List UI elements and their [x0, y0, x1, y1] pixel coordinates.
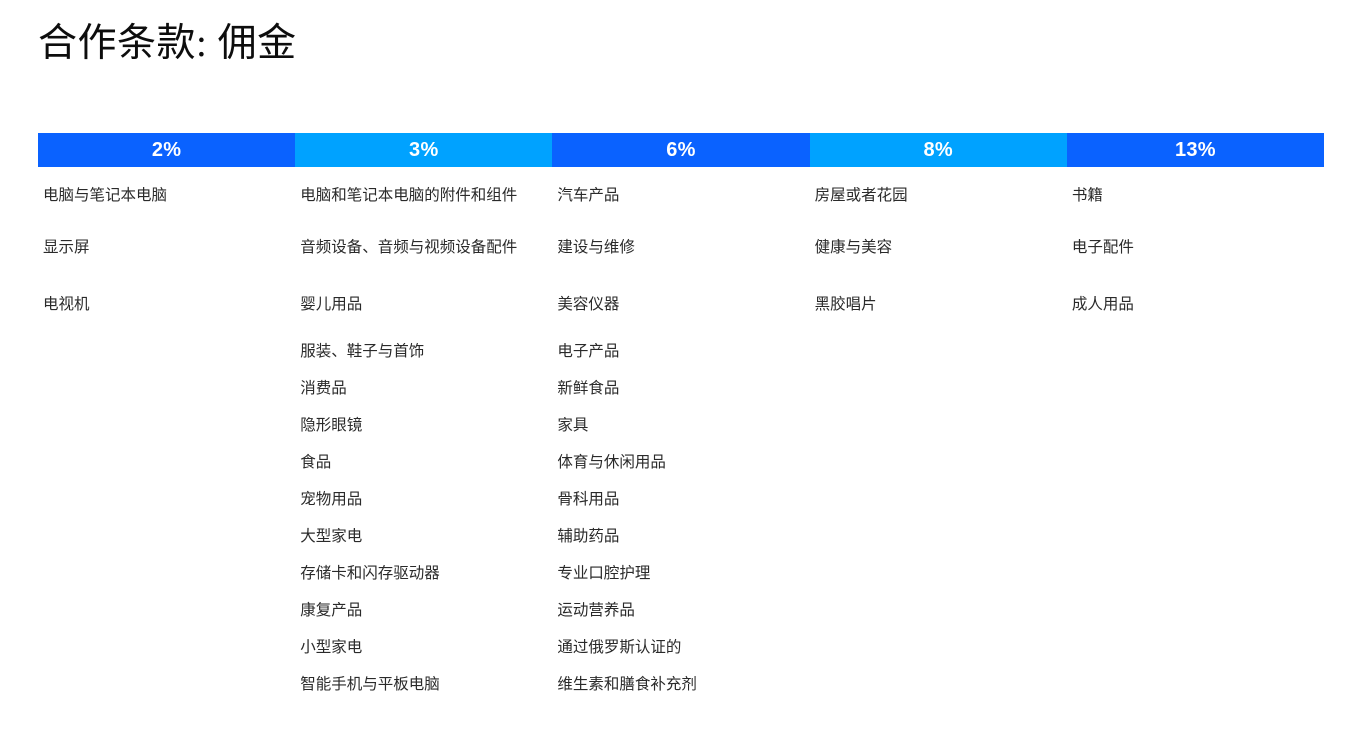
- table-cell: 通过俄罗斯认证的: [557, 629, 797, 666]
- table-cell-label: 电子配件: [1072, 238, 1134, 258]
- table-cell-label: 书籍: [1072, 186, 1103, 206]
- table-cell-label: 电脑与笔记本电脑: [43, 186, 167, 206]
- table-cell: 食品: [300, 444, 540, 481]
- commission-body: 电脑与笔记本电脑显示屏电视机 电脑和笔记本电脑的附件和组件音频设备、音频与视频设…: [38, 167, 1324, 703]
- table-cell: 体育与休闲用品: [557, 444, 797, 481]
- table-cell: 康复产品: [300, 592, 540, 629]
- table-cell: 显示屏: [43, 219, 283, 276]
- table-cell-label: 黑胶唱片: [815, 295, 877, 315]
- table-cell-label: 电脑和笔记本电脑的附件和组件: [300, 186, 517, 206]
- table-cell-label: 宠物用品: [300, 490, 362, 510]
- column-header-label: 3%: [409, 139, 439, 162]
- column-body-6-percent: 汽车产品建设与维修美容仪器电子产品新鲜食品家具体育与休闲用品骨科用品辅助药品专业…: [552, 167, 809, 703]
- table-cell: 建设与维修: [557, 219, 797, 276]
- table-cell: 电脑与笔记本电脑: [43, 167, 283, 219]
- column-header-8-percent: 8%: [810, 133, 1067, 167]
- column-header-6-percent: 6%: [552, 133, 809, 167]
- table-cell: 运动营养品: [557, 592, 797, 629]
- table-cell: 汽车产品: [557, 167, 797, 219]
- commission-table: 2% 3% 6% 8% 13% 电脑与笔记本电脑显示屏电视机 电脑和笔记本电脑的…: [38, 133, 1324, 703]
- table-cell-label: 维生素和膳食补充剂: [557, 675, 697, 695]
- table-cell-label: 通过俄罗斯认证的: [557, 638, 681, 658]
- table-cell: 电脑和笔记本电脑的附件和组件: [300, 167, 540, 219]
- column-header-13-percent: 13%: [1067, 133, 1324, 167]
- table-cell-label: 音频设备、音频与视频设备配件: [300, 238, 517, 258]
- column-header-label: 13%: [1175, 139, 1216, 162]
- table-cell: 成人用品: [1072, 276, 1312, 333]
- table-cell-label: 新鲜食品: [557, 379, 619, 399]
- table-cell: 消费品: [300, 370, 540, 407]
- column-header-2-percent: 2%: [38, 133, 295, 167]
- table-cell: 服装、鞋子与首饰: [300, 333, 540, 370]
- table-cell: 黑胶唱片: [815, 276, 1055, 333]
- table-cell-label: 辅助药品: [557, 527, 619, 547]
- table-cell-label: 家具: [557, 416, 588, 436]
- table-cell: 骨科用品: [557, 481, 797, 518]
- table-cell: 家具: [557, 407, 797, 444]
- column-header-label: 2%: [152, 139, 182, 162]
- page-title: 合作条款: 佣金: [38, 18, 297, 70]
- table-cell: 婴儿用品: [300, 276, 540, 333]
- table-cell-label: 小型家电: [300, 638, 362, 658]
- table-cell-label: 服装、鞋子与首饰: [300, 342, 424, 362]
- column-body-2-percent: 电脑与笔记本电脑显示屏电视机: [38, 167, 295, 703]
- table-cell-label: 体育与休闲用品: [557, 453, 666, 473]
- table-cell-label: 建设与维修: [557, 238, 635, 258]
- table-cell: 小型家电: [300, 629, 540, 666]
- table-cell-label: 存储卡和闪存驱动器: [300, 564, 440, 584]
- column-header-label: 8%: [923, 139, 953, 162]
- table-cell-label: 康复产品: [300, 601, 362, 621]
- table-cell: 宠物用品: [300, 481, 540, 518]
- table-cell-label: 隐形眼镜: [300, 416, 362, 436]
- table-cell: 美容仪器: [557, 276, 797, 333]
- table-cell: 健康与美容: [815, 219, 1055, 276]
- table-cell: 存储卡和闪存驱动器: [300, 555, 540, 592]
- table-cell: 大型家电: [300, 518, 540, 555]
- commission-header-row: 2% 3% 6% 8% 13%: [38, 133, 1324, 167]
- table-cell: 音频设备、音频与视频设备配件: [300, 219, 540, 276]
- column-body-13-percent: 书籍电子配件成人用品: [1067, 167, 1324, 703]
- table-cell-label: 大型家电: [300, 527, 362, 547]
- table-cell-label: 成人用品: [1072, 295, 1134, 315]
- table-cell-label: 电视机: [43, 295, 90, 315]
- table-cell-label: 电子产品: [557, 342, 619, 362]
- table-cell-label: 美容仪器: [557, 295, 619, 315]
- table-cell: 专业口腔护理: [557, 555, 797, 592]
- table-cell-label: 运动营养品: [557, 601, 635, 621]
- table-cell: 电视机: [43, 276, 283, 333]
- table-cell: 电子产品: [557, 333, 797, 370]
- table-cell: 智能手机与平板电脑: [300, 666, 540, 703]
- table-cell-label: 房屋或者花园: [815, 186, 908, 206]
- table-cell-label: 食品: [300, 453, 331, 473]
- table-cell: 房屋或者花园: [815, 167, 1055, 219]
- table-cell-label: 婴儿用品: [300, 295, 362, 315]
- table-cell-label: 消费品: [300, 379, 347, 399]
- column-header-3-percent: 3%: [295, 133, 552, 167]
- table-cell: 新鲜食品: [557, 370, 797, 407]
- column-header-label: 6%: [666, 139, 696, 162]
- table-cell-label: 显示屏: [43, 238, 90, 258]
- table-cell: 维生素和膳食补充剂: [557, 666, 797, 703]
- table-cell-label: 骨科用品: [557, 490, 619, 510]
- table-cell: 书籍: [1072, 167, 1312, 219]
- table-cell-label: 智能手机与平板电脑: [300, 675, 440, 695]
- column-body-3-percent: 电脑和笔记本电脑的附件和组件音频设备、音频与视频设备配件婴儿用品服装、鞋子与首饰…: [295, 167, 552, 703]
- table-cell-label: 汽车产品: [557, 186, 619, 206]
- table-cell-label: 专业口腔护理: [557, 564, 650, 584]
- table-cell-label: 健康与美容: [815, 238, 893, 258]
- table-cell: 辅助药品: [557, 518, 797, 555]
- table-cell: 隐形眼镜: [300, 407, 540, 444]
- column-body-8-percent: 房屋或者花园健康与美容黑胶唱片: [810, 167, 1067, 703]
- table-cell: 电子配件: [1072, 219, 1312, 276]
